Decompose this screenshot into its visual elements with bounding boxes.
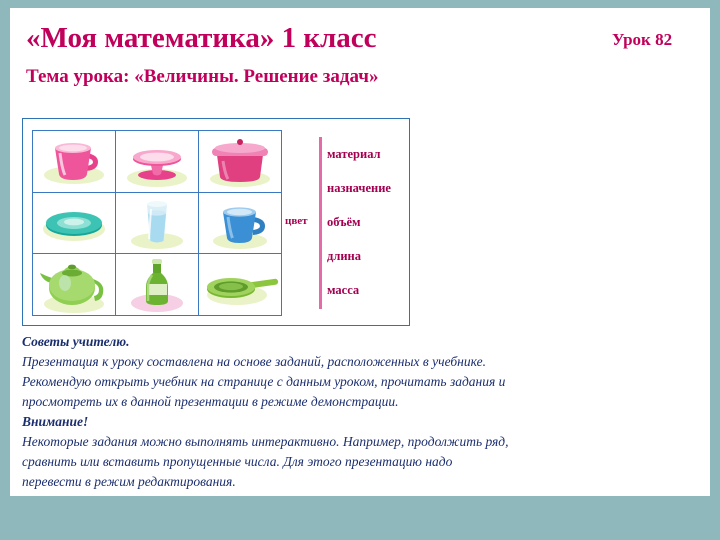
glass-of-water-icon xyxy=(116,193,198,253)
green-teapot-icon xyxy=(33,255,115,315)
frame-top-band xyxy=(0,0,720,8)
cell-green-frying-pan xyxy=(199,254,282,316)
pink-cake-stand-icon xyxy=(116,131,198,191)
advice-heading-2-text: Внимание! xyxy=(22,414,88,429)
pink-mug-icon xyxy=(33,131,115,191)
objects-grid xyxy=(32,130,282,316)
property-label-color: цвет xyxy=(285,215,308,227)
property-item-material: материал xyxy=(327,137,427,171)
advice-heading-1: Советы учителю. xyxy=(22,332,694,352)
green-frying-pan-icon xyxy=(199,255,281,315)
advice-heading-1-text: Советы учителю. xyxy=(22,334,130,349)
cell-glass-of-water xyxy=(116,192,199,254)
cell-pink-mug xyxy=(33,131,116,193)
frame-bottom-band xyxy=(0,496,720,540)
advice-line-2: Рекомендую открыть учебник на странице с… xyxy=(22,372,694,392)
property-item-mass: масса xyxy=(327,273,427,307)
property-item-volume: объём xyxy=(327,205,427,239)
lesson-subtitle: Тема урока: «Величины. Решение задач» xyxy=(26,66,378,88)
blue-cup-icon xyxy=(199,193,281,253)
table-row xyxy=(33,192,282,254)
page-title: «Моя математика» 1 класс xyxy=(26,22,377,55)
advice-line-1: Презентация к уроку составлена на основе… xyxy=(22,352,694,372)
frame-right-band xyxy=(710,0,720,540)
cell-blue-cup xyxy=(199,192,282,254)
lesson-number: Урок 82 xyxy=(612,30,672,50)
property-list-rule xyxy=(319,137,322,309)
frame-left-band xyxy=(0,0,10,540)
property-item-purpose: назначение xyxy=(327,171,427,205)
cell-pink-pot xyxy=(199,131,282,193)
advice-line-6: перевести в режим редактирования. xyxy=(22,472,694,492)
property-item-length: длина xyxy=(327,239,427,273)
objects-illustration: цвет материал назначение объём длина мас… xyxy=(22,118,410,326)
advice-line-5: сравнить или вставить пропущенные числа.… xyxy=(22,452,694,472)
advice-heading-2: Внимание! xyxy=(22,412,694,432)
teal-plate-icon xyxy=(33,193,115,253)
green-bottle-icon xyxy=(116,255,198,315)
cell-green-teapot xyxy=(33,254,116,316)
advice-line-4: Некоторые задания можно выполнять интера… xyxy=(22,432,694,452)
table-row xyxy=(33,254,282,316)
slide: «Моя математика» 1 класс Урок 82 Тема ур… xyxy=(0,0,720,540)
cell-pink-cake-stand xyxy=(116,131,199,193)
cell-teal-plate xyxy=(33,192,116,254)
advice-line-3: просмотреть их в данной презентации в ре… xyxy=(22,392,694,412)
property-list: материал назначение объём длина масса xyxy=(327,137,427,307)
table-row xyxy=(33,131,282,193)
teacher-advice-block: Советы учителю. Презентация к уроку сост… xyxy=(22,332,694,492)
cell-green-bottle xyxy=(116,254,199,316)
pink-pot-icon xyxy=(199,131,281,191)
